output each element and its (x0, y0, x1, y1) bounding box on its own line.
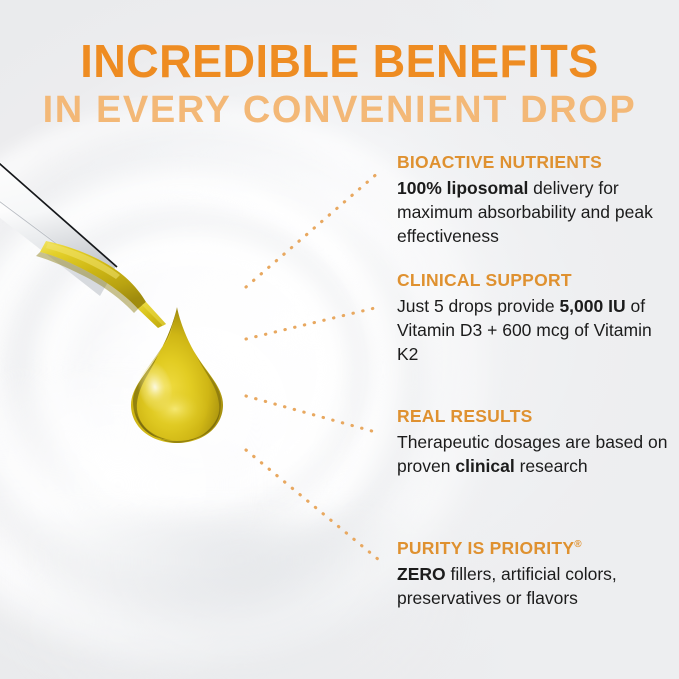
feature-purity-is-priority: PURITY IS PRIORITY® ZERO fillers, artifi… (397, 538, 669, 648)
feature-list: BIOACTIVE NUTRIENTS 100% liposomal deliv… (397, 152, 669, 648)
headline: INCREDIBLE BENEFITS IN EVERY CONVENIENT … (0, 38, 679, 129)
feature-title-bioactive-nutrients: BIOACTIVE NUTRIENTS (397, 152, 669, 172)
headline-line-1: INCREDIBLE BENEFITS (7, 38, 672, 84)
feature-real-results: REAL RESULTS Therapeutic dosages are bas… (397, 406, 669, 524)
feature-bioactive-nutrients: BIOACTIVE NUTRIENTS 100% liposomal deliv… (397, 152, 669, 256)
feature-body-purity-is-priority: ZERO fillers, artificial colors, preserv… (397, 563, 669, 611)
registered-trademark-icon: ® (574, 539, 581, 550)
feature-title-purity-is-priority: PURITY IS PRIORITY® (397, 538, 669, 558)
feature-body-emphasis: clinical (455, 456, 514, 476)
feature-title-text: PURITY IS PRIORITY (397, 538, 574, 558)
feature-body-lead: Just 5 drops provide (397, 296, 559, 316)
dropper-pipette-icon (0, 148, 218, 328)
feature-body-text: research (515, 456, 588, 476)
infographic-canvas: INCREDIBLE BENEFITS IN EVERY CONVENIENT … (0, 0, 679, 679)
feature-body-bioactive-nutrients: 100% liposomal delivery for maximum abso… (397, 177, 669, 248)
feature-title-real-results: REAL RESULTS (397, 406, 669, 426)
oil-drop-icon (113, 305, 241, 445)
feature-title-clinical-support: CLINICAL SUPPORT (397, 270, 669, 290)
oil-drop-inner-glow (141, 385, 209, 433)
feature-body-clinical-support: Just 5 drops provide 5,000 IU of Vitamin… (397, 295, 669, 366)
feature-body-emphasis: 5,000 IU (559, 296, 625, 316)
feature-body-emphasis: 100% liposomal (397, 178, 528, 198)
feature-body-emphasis: ZERO (397, 564, 446, 584)
headline-line-2: IN EVERY CONVENIENT DROP (0, 91, 679, 129)
feature-clinical-support: CLINICAL SUPPORT Just 5 drops provide 5,… (397, 270, 669, 392)
feature-body-real-results: Therapeutic dosages are based on proven … (397, 431, 669, 479)
